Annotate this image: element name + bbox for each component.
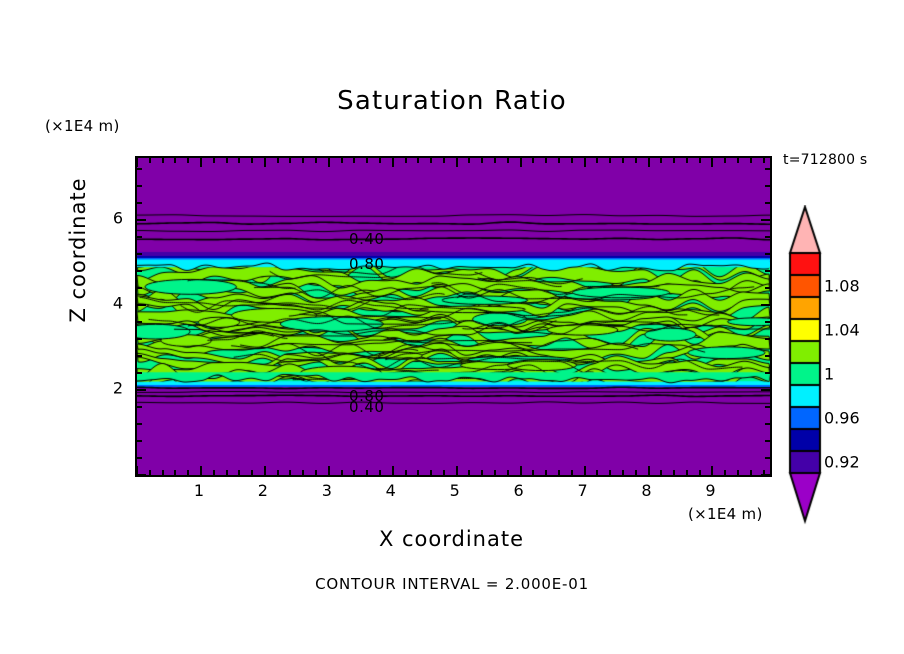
x-axis-tick xyxy=(711,466,713,475)
x-axis-tick xyxy=(635,158,637,163)
y-axis-tick xyxy=(765,168,770,170)
x-axis-tick xyxy=(494,470,496,475)
y-axis-tick xyxy=(137,185,142,187)
x-axis-tick xyxy=(763,158,765,163)
y-axis-tick xyxy=(765,321,770,323)
y-axis-tick xyxy=(137,236,142,238)
y-axis-tick xyxy=(137,474,146,476)
x-axis-tick xyxy=(341,470,343,475)
x-axis-tick xyxy=(750,158,752,163)
x-axis-tick xyxy=(405,470,407,475)
x-axis-tick xyxy=(315,158,317,163)
contour-plot-area: 0.400.800.800.40 xyxy=(135,156,772,477)
y-axis-tick xyxy=(137,457,142,459)
y-axis-tick xyxy=(137,338,142,340)
x-axis-tick xyxy=(507,158,509,163)
x-axis-tick xyxy=(571,470,573,475)
x-axis-tick xyxy=(468,470,470,475)
y-axis-tick xyxy=(137,423,142,425)
y-axis-tick xyxy=(761,389,770,391)
y-axis-tick xyxy=(761,304,770,306)
contour-field-canvas xyxy=(137,158,770,475)
x-tick-label: 8 xyxy=(641,481,651,500)
x-axis-tick xyxy=(149,470,151,475)
y-axis-tick xyxy=(765,236,770,238)
x-tick-label: 3 xyxy=(322,481,332,500)
x-axis-title: X coordinate xyxy=(135,527,768,551)
x-axis-tick xyxy=(648,158,650,167)
x-axis-tick xyxy=(507,470,509,475)
y-axis-tick xyxy=(137,355,142,357)
x-axis-tick xyxy=(609,158,611,163)
y-axis-tick xyxy=(765,423,770,425)
x-axis-tick xyxy=(226,158,228,163)
y-axis-unit-label: (×1E4 m) xyxy=(45,117,120,135)
y-axis-tick xyxy=(137,253,142,255)
x-axis-tick xyxy=(686,158,688,163)
y-axis-tick xyxy=(137,440,142,442)
x-axis-tick xyxy=(686,470,688,475)
x-axis-tick xyxy=(430,470,432,475)
y-axis-tick xyxy=(765,253,770,255)
x-axis-tick xyxy=(226,470,228,475)
x-axis-tick xyxy=(213,158,215,163)
x-axis-tick xyxy=(328,466,330,475)
x-axis-tick xyxy=(558,158,560,163)
y-axis-tick xyxy=(765,440,770,442)
x-axis-tick xyxy=(251,470,253,475)
x-axis-tick xyxy=(468,158,470,163)
x-axis-tick xyxy=(366,470,368,475)
x-tick-label: 4 xyxy=(386,481,396,500)
x-axis-tick xyxy=(609,470,611,475)
y-axis-tick xyxy=(765,338,770,340)
x-axis-tick xyxy=(699,158,701,163)
x-axis-tick xyxy=(200,466,202,475)
colorbar-tick-label: 1 xyxy=(824,365,834,384)
y-axis-tick xyxy=(137,202,142,204)
y-axis-tick xyxy=(765,270,770,272)
colorbar: 1.081.0410.960.92 xyxy=(784,205,904,530)
x-axis-tick xyxy=(481,470,483,475)
x-axis-tick xyxy=(379,158,381,163)
x-axis-tick xyxy=(366,158,368,163)
x-axis-tick xyxy=(699,470,701,475)
x-axis-tick xyxy=(417,470,419,475)
x-axis-tick xyxy=(174,470,176,475)
x-tick-label: 2 xyxy=(258,481,268,500)
y-axis-tick xyxy=(765,287,770,289)
x-axis-tick xyxy=(328,158,330,167)
x-axis-tick xyxy=(238,158,240,163)
y-axis-tick xyxy=(137,372,142,374)
x-axis-tick xyxy=(545,470,547,475)
x-axis-tick xyxy=(315,470,317,475)
x-axis-tick xyxy=(443,158,445,163)
x-axis-tick xyxy=(405,158,407,163)
colorbar-tick-label: 1.04 xyxy=(824,321,860,340)
y-axis-tick xyxy=(137,389,146,391)
y-axis-title: Z coordinate xyxy=(66,150,90,350)
x-axis-tick xyxy=(149,158,151,163)
x-axis-tick xyxy=(673,158,675,163)
y-axis-tick xyxy=(761,474,770,476)
x-axis-tick xyxy=(456,158,458,167)
y-axis-tick xyxy=(765,202,770,204)
x-axis-tick xyxy=(187,158,189,163)
x-axis-tick xyxy=(430,158,432,163)
x-axis-tick xyxy=(251,158,253,163)
x-axis-tick xyxy=(648,466,650,475)
y-axis-tick xyxy=(137,219,146,221)
y-axis-tick xyxy=(765,406,770,408)
x-tick-label: 5 xyxy=(450,481,460,500)
y-axis-tick xyxy=(137,168,142,170)
x-axis-tick xyxy=(353,158,355,163)
x-axis-tick xyxy=(302,470,304,475)
x-axis-tick xyxy=(520,466,522,475)
x-axis-tick xyxy=(200,158,202,167)
y-axis-tick xyxy=(765,372,770,374)
colorbar-tick-label: 0.92 xyxy=(824,453,860,472)
x-axis-tick xyxy=(264,466,266,475)
x-axis-tick xyxy=(136,158,138,167)
y-axis-tick xyxy=(137,321,142,323)
colorbar-tick-label: 0.96 xyxy=(824,409,860,428)
x-axis-tick xyxy=(456,466,458,475)
y-axis-tick xyxy=(765,185,770,187)
x-axis-tick xyxy=(584,158,586,167)
colorbar-canvas xyxy=(784,205,904,530)
x-axis-tick xyxy=(238,470,240,475)
x-axis-tick xyxy=(174,158,176,163)
x-axis-tick xyxy=(737,470,739,475)
x-tick-label: 9 xyxy=(705,481,715,500)
x-axis-tick xyxy=(545,158,547,163)
y-tick-label: 4 xyxy=(101,293,123,312)
x-axis-tick xyxy=(264,158,266,167)
x-axis-tick xyxy=(277,470,279,475)
y-axis-tick xyxy=(137,287,142,289)
page-title: Saturation Ratio xyxy=(0,86,904,116)
x-axis-tick xyxy=(750,470,752,475)
x-axis-tick xyxy=(392,158,394,167)
x-axis-tick xyxy=(711,158,713,167)
timestamp-label: t=712800 s xyxy=(783,152,867,168)
contour-interval-note: CONTOUR INTERVAL = 2.000E-01 xyxy=(0,575,904,593)
x-axis-tick xyxy=(379,470,381,475)
x-axis-tick xyxy=(558,470,560,475)
x-axis-unit-label: (×1E4 m) xyxy=(688,505,763,523)
x-axis-tick xyxy=(724,470,726,475)
x-axis-tick xyxy=(532,158,534,163)
x-axis-tick xyxy=(353,470,355,475)
x-axis-tick xyxy=(289,470,291,475)
x-axis-tick xyxy=(277,158,279,163)
x-axis-tick xyxy=(737,158,739,163)
x-axis-tick xyxy=(622,158,624,163)
x-axis-tick xyxy=(213,470,215,475)
y-tick-label: 6 xyxy=(101,208,123,227)
x-axis-tick xyxy=(187,470,189,475)
contour-level-label: 0.40 xyxy=(349,398,384,416)
x-axis-tick xyxy=(596,470,598,475)
x-axis-tick xyxy=(635,470,637,475)
contour-level-label: 0.40 xyxy=(349,230,384,248)
x-axis-tick xyxy=(481,158,483,163)
x-axis-tick xyxy=(392,466,394,475)
x-axis-tick xyxy=(660,158,662,163)
x-axis-tick xyxy=(341,158,343,163)
x-axis-tick xyxy=(660,470,662,475)
x-axis-tick xyxy=(162,470,164,475)
y-axis-tick xyxy=(137,304,146,306)
x-tick-label: 1 xyxy=(194,481,204,500)
y-tick-label: 2 xyxy=(101,378,123,397)
x-axis-tick xyxy=(520,158,522,167)
y-axis-tick xyxy=(137,406,142,408)
x-axis-tick xyxy=(584,466,586,475)
x-axis-tick xyxy=(494,158,496,163)
y-axis-tick xyxy=(765,457,770,459)
x-tick-label: 7 xyxy=(577,481,587,500)
x-axis-tick xyxy=(673,470,675,475)
y-axis-tick xyxy=(761,219,770,221)
contour-level-label: 0.80 xyxy=(349,255,384,273)
x-axis-tick xyxy=(622,470,624,475)
y-axis-tick xyxy=(765,355,770,357)
x-tick-label: 6 xyxy=(514,481,524,500)
y-axis-tick xyxy=(137,270,142,272)
x-axis-tick xyxy=(417,158,419,163)
x-axis-tick xyxy=(302,158,304,163)
x-axis-tick xyxy=(724,158,726,163)
x-axis-tick xyxy=(443,470,445,475)
x-axis-tick xyxy=(596,158,598,163)
x-axis-tick xyxy=(162,158,164,163)
x-axis-tick xyxy=(289,158,291,163)
x-axis-tick xyxy=(571,158,573,163)
colorbar-tick-label: 1.08 xyxy=(824,277,860,296)
x-axis-tick xyxy=(532,470,534,475)
